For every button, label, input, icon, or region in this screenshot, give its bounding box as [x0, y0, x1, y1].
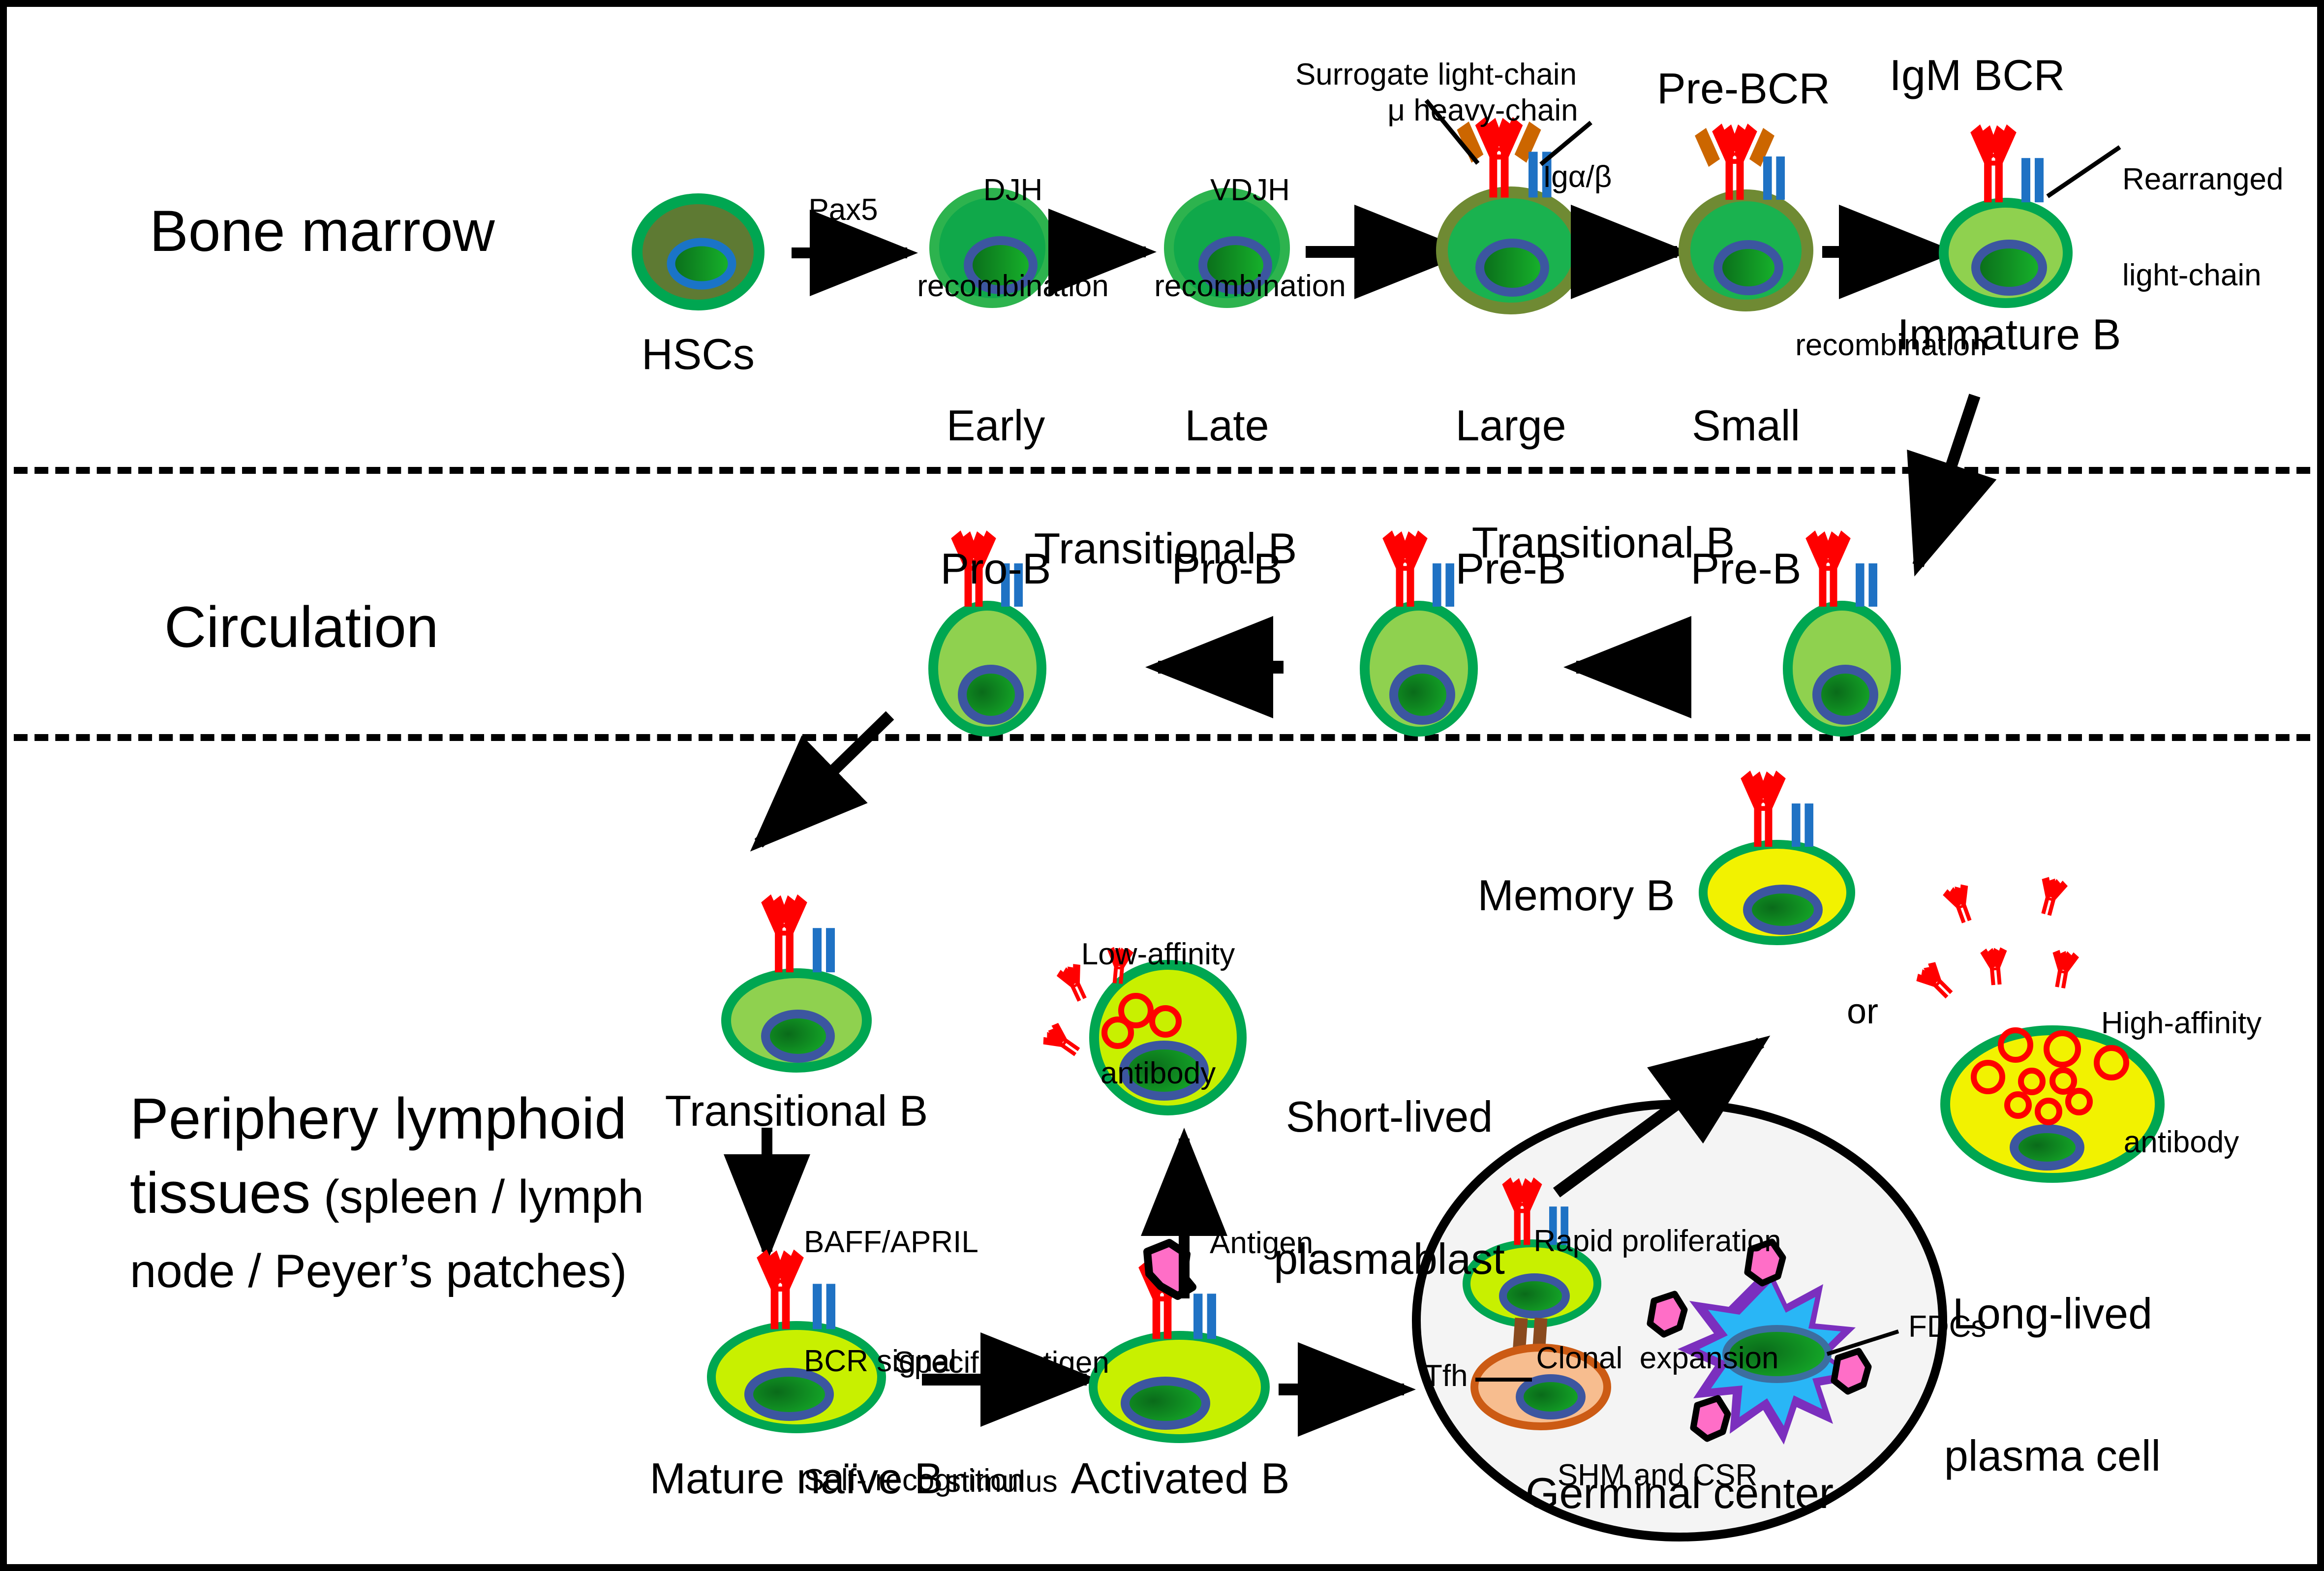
- vjl-line2: recombination: [1795, 329, 1987, 361]
- cell-label-circ-transitional-b-middle: Transitional B: [1472, 520, 1735, 565]
- large-pre-b-line1: Large: [1455, 403, 1566, 448]
- cell-label-circ-transitional-b-left: Transitional B: [1034, 526, 1297, 571]
- arrow-label-vdjh: VDJH recombination: [1154, 110, 1345, 367]
- figure-canvas: Bone marrow Circulation Periphery lympho…: [0, 0, 2324, 1571]
- callout-ig-alpha-beta: Igα/β: [1543, 161, 1612, 193]
- cell-label-periph-transitional-b: Transitional B: [665, 1088, 928, 1134]
- cell-small-pre-b: [1684, 123, 1807, 306]
- low-affinity-line2: antibody: [1081, 1054, 1235, 1094]
- late-pro-b-line1: Late: [1172, 403, 1283, 448]
- djh-line2: recombination: [917, 270, 1108, 302]
- vjl-line1: VJL: [1795, 233, 1987, 265]
- annotation-low-affinity: Low-affinity antibody: [1081, 856, 1235, 1173]
- annotation-high-affinity: High-affinity antibody: [2101, 924, 2262, 1242]
- high-affinity-line2: antibody: [2101, 1123, 2262, 1163]
- long-lived-line2: plasma cell: [1944, 1433, 2161, 1479]
- specific-antigen-line2: stimulus: [894, 1462, 1109, 1502]
- djh-line1: DJH: [917, 174, 1108, 206]
- cell-label-long-lived-plasma: Long-lived plasma cell: [1944, 1200, 2161, 1570]
- gc-label: Germinal center: [1526, 1471, 1834, 1516]
- low-affinity-line1: Low-affinity: [1081, 935, 1235, 975]
- cell-label-memory-b: Memory B: [1478, 873, 1675, 918]
- annotation-or: or: [1847, 993, 1878, 1031]
- vdjh-line2: recombination: [1154, 270, 1345, 302]
- vdjh-line1: VDJH: [1154, 174, 1345, 206]
- cell-label-hsc: HSCs: [642, 332, 755, 377]
- cell-hsc: [637, 199, 759, 305]
- gc-process-line2: Clonal expansion: [1533, 1339, 1781, 1378]
- rearranged-line1: Rearranged: [2122, 163, 2283, 195]
- cell-label-large-pre-b: Large Pre-B: [1455, 312, 1566, 682]
- callout-rearranged-light-chain: Rearranged light-chain: [2122, 99, 2283, 356]
- short-lived-line1: Short-lived: [1274, 1094, 1505, 1140]
- cell-periph-transitional-b: [726, 894, 867, 1068]
- gc-process-line1: Rapid proliferation: [1533, 1222, 1781, 1261]
- cell-label-early-pro-b: Early Pro-B: [941, 312, 1051, 682]
- callout-mu-heavy-chain: μ heavy-chain: [1387, 94, 1578, 126]
- small-pre-b-line1: Small: [1691, 403, 1802, 448]
- arrow-label-pax5: Pax5: [808, 194, 878, 226]
- specific-antigen-line1: Specific antigen: [894, 1343, 1109, 1383]
- gc-tfh-label: Tfh: [1424, 1360, 1468, 1392]
- high-affinity-line1: High-affinity: [2101, 1004, 2262, 1044]
- baff-line1: BAFF/APRIL: [804, 1223, 1024, 1263]
- arrow-label-vjl: VJL recombination: [1795, 169, 1987, 426]
- cell-memory-b: [1703, 770, 1851, 941]
- callout-surrogate-light-chain: Surrogate light-chain: [1295, 59, 1577, 91]
- cell-label-short-lived-plasmablast: Short-lived plasmablast: [1274, 1003, 1505, 1373]
- annotation-antigen: Antigen: [1210, 1227, 1313, 1259]
- early-pro-b-line1: Early: [941, 403, 1051, 448]
- annotation-specific-antigen: Specific antigen stimulus: [894, 1264, 1109, 1571]
- callout-pre-bcr: Pre-BCR: [1657, 66, 1830, 111]
- cell-label-late-pro-b: Late Pro-B: [1172, 312, 1283, 682]
- callout-igm-bcr: IgM BCR: [1890, 53, 2065, 98]
- cell-label-small-pre-b: Small Pre-B: [1691, 312, 1802, 682]
- gc-fdc-label: FDCs: [1908, 1311, 1986, 1343]
- rearranged-line2: light-chain: [2122, 259, 2283, 291]
- cell-circ-transitional-b-right: [1788, 530, 1896, 732]
- arrow-label-djh: DJH recombination: [917, 110, 1108, 367]
